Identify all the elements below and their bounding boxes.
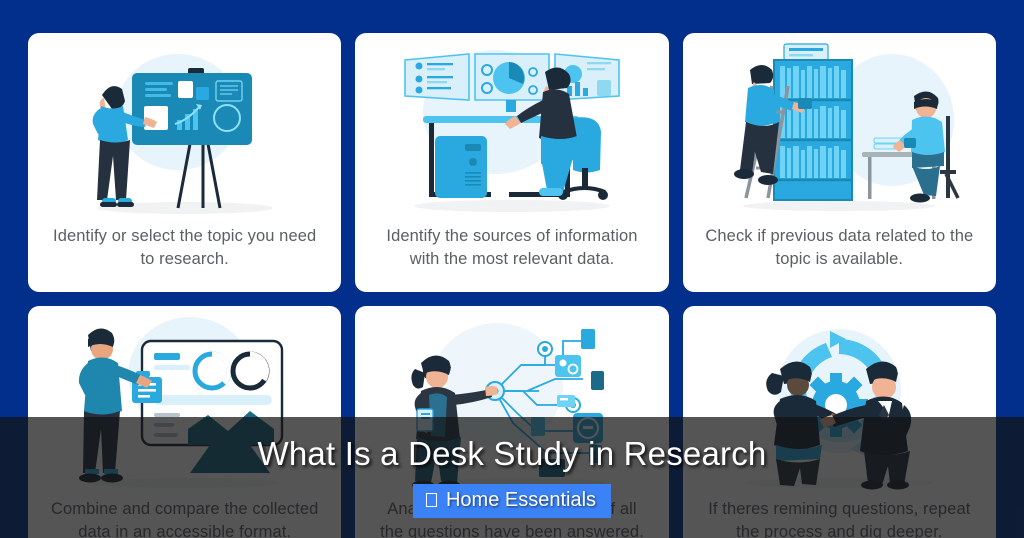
card-step-3[interactable]: Check if previous data related to the to… [683, 33, 996, 292]
library-bookshelf-ladder-illustration [683, 33, 996, 225]
person-presenting-at-board-illustration [28, 33, 341, 225]
card-caption: Identify the sources of information with… [355, 225, 668, 272]
page-root: Identify or select the topic you need to… [0, 0, 1024, 538]
card-caption: Identify or select the topic you need to… [28, 225, 341, 272]
card-caption: Check if previous data related to the to… [683, 225, 996, 272]
card-step-1[interactable]: Identify or select the topic you need to… [28, 33, 341, 292]
card-step-2[interactable]: Identify the sources of information with… [355, 33, 668, 292]
person-at-multi-monitor-workstation-illustration [355, 33, 668, 225]
missing-glyph-box-icon [426, 493, 437, 507]
home-essentials-button-label: Home Essentials [446, 487, 596, 513]
overlay-title: What Is a Desk Study in Research [0, 436, 1024, 472]
home-essentials-button[interactable]: Home Essentials [413, 484, 611, 518]
